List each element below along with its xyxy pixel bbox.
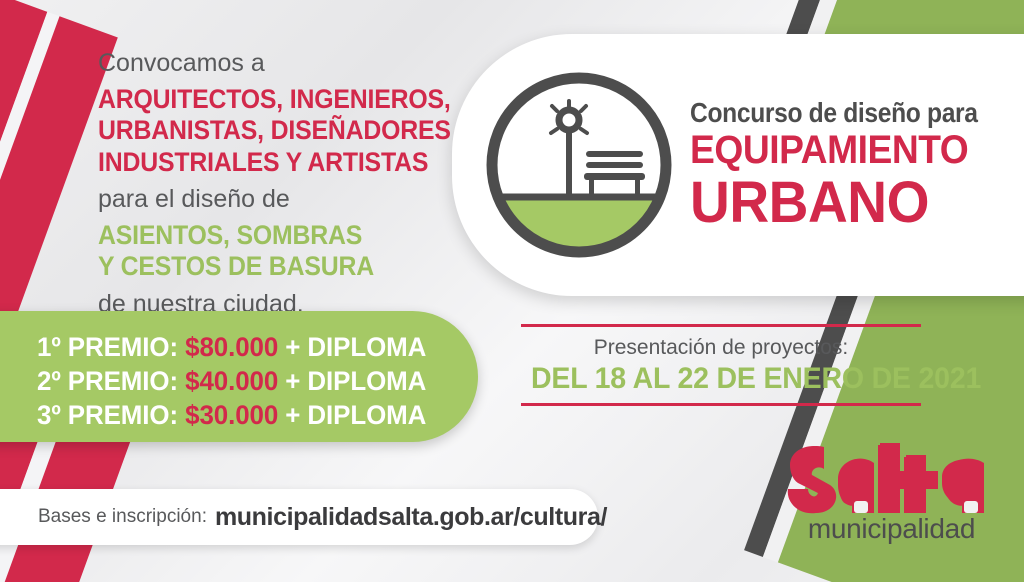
prize-row: 3º PREMIO: $30.000 + DIPLOMA — [37, 398, 426, 432]
call-line-5: para el diseño de — [98, 184, 438, 215]
prize-suffix: + DIPLOMA — [278, 400, 426, 430]
url-value[interactable]: municipalidadsalta.gob.ar/cultura/ — [215, 503, 607, 532]
park-bench-streetlamp-icon — [481, 67, 677, 263]
salta-wordmark — [784, 443, 999, 515]
header-title-line1: EQUIPAMIENTO — [690, 129, 997, 172]
call-line-3: URBANISTAS, DISEÑADORES — [98, 115, 411, 147]
call-line-6: ASIENTOS, SOMBRAS — [98, 220, 411, 252]
url-label: Bases e inscripción: — [38, 506, 207, 528]
prize-amount: $80.000 — [185, 332, 278, 362]
prize-place: 2º PREMIO: — [37, 366, 185, 396]
poster-canvas: Concurso de diseño para EQUIPAMIENTO URB… — [0, 0, 1024, 582]
call-line-1: Convocamos a — [98, 48, 438, 79]
call-line-7: Y CESTOS DE BASURA — [98, 251, 411, 283]
rule-bottom — [521, 403, 921, 406]
logo-subtitle: municipalidad — [784, 513, 999, 545]
prize-amount: $30.000 — [185, 400, 278, 430]
dates-value: DEL 18 AL 22 DE ENERO DE 2021 — [531, 362, 911, 395]
call-for-entries-block: Convocamos a ARQUITECTOS, INGENIEROS, UR… — [98, 48, 438, 319]
rule-top — [521, 324, 921, 327]
prize-amount: $40.000 — [185, 366, 278, 396]
url-inner: Bases e inscripción: municipalidadsalta.… — [38, 489, 607, 545]
call-line-2: ARQUITECTOS, INGENIEROS, — [98, 84, 411, 116]
prize-suffix: + DIPLOMA — [278, 366, 426, 396]
prize-place: 3º PREMIO: — [37, 400, 185, 430]
prize-list: 1º PREMIO: $80.000 + DIPLOMA 2º PREMIO: … — [37, 330, 442, 432]
header-text-group: Concurso de diseño para EQUIPAMIENTO URB… — [690, 98, 1020, 232]
prize-place: 1º PREMIO: — [37, 332, 185, 362]
header-title-line2: URBANO — [690, 174, 1004, 232]
header-kicker: Concurso de diseño para — [690, 98, 980, 127]
crimson-stripe-wide — [0, 0, 47, 538]
prize-row: 2º PREMIO: $40.000 + DIPLOMA — [37, 364, 426, 398]
prize-suffix: + DIPLOMA — [278, 332, 426, 362]
white-stripe-divider — [0, 12, 60, 543]
prize-block: 1º PREMIO: $80.000 + DIPLOMA 2º PREMIO: … — [0, 311, 478, 442]
call-line-4: INDUSTRIALES Y ARTISTAS — [98, 147, 411, 179]
dates-label: Presentación de proyectos: — [521, 336, 921, 360]
url-bar[interactable]: Bases e inscripción: municipalidadsalta.… — [0, 489, 598, 545]
salta-municipalidad-logo: municipalidad — [784, 443, 999, 545]
dates-block: Presentación de proyectos: DEL 18 AL 22 … — [521, 324, 921, 406]
prize-row: 1º PREMIO: $80.000 + DIPLOMA — [37, 330, 426, 364]
